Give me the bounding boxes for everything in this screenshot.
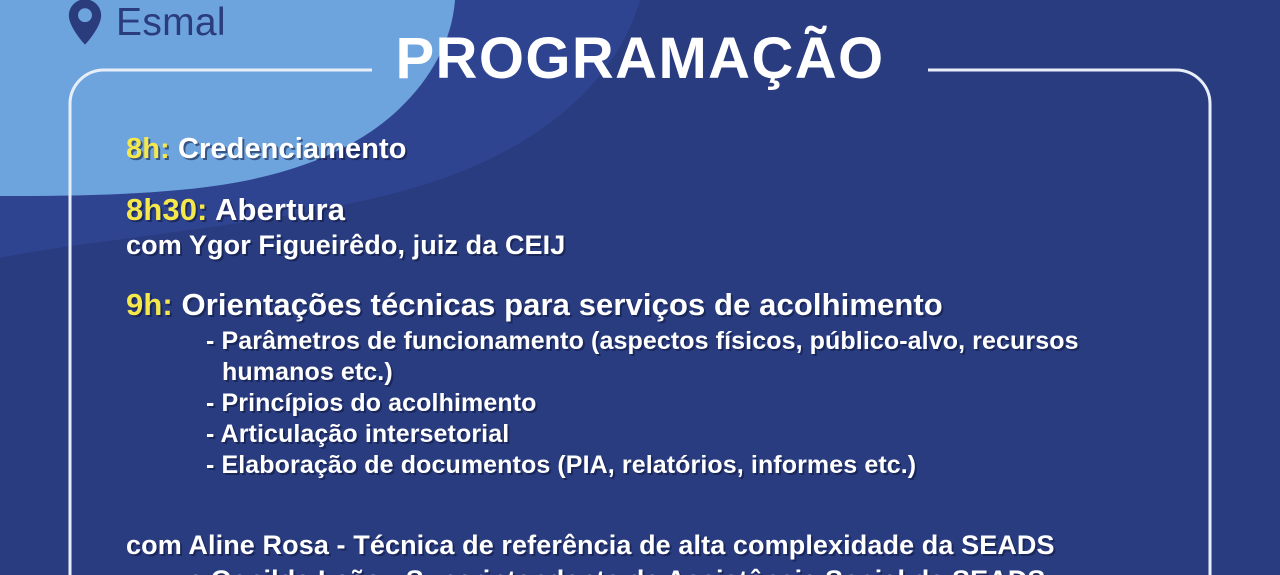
- schedule-entry-title: Abertura: [215, 192, 345, 227]
- schedule-list: 8h: Credenciamento 8h30: Abertura com Yg…: [126, 132, 1186, 481]
- credits-line-2: e Genilda Leão - Superintendente de Assi…: [126, 563, 1226, 575]
- list-item: - Elaboração de documentos (PIA, relatór…: [206, 450, 1186, 481]
- page-title: PROGRAMAÇÃO: [0, 30, 1280, 88]
- schedule-entry-0: 8h: Credenciamento: [126, 132, 1186, 166]
- list-item: - Parâmetros de funcionamento (aspectos …: [206, 326, 1186, 388]
- schedule-entry-heading: 8h30: Abertura: [126, 192, 1186, 229]
- list-item: - Princípios do acolhimento: [206, 388, 1186, 419]
- schedule-entry-time: 8h:: [126, 133, 170, 165]
- schedule-entry-time: 9h:: [126, 287, 173, 322]
- schedule-entry-1: 8h30: Abertura com Ygor Figueirêdo, juiz…: [126, 192, 1186, 261]
- list-item: - Articulação intersetorial: [206, 419, 1186, 450]
- schedule-entry-bullets: - Parâmetros de funcionamento (aspectos …: [126, 326, 1186, 481]
- schedule-entry-heading: 8h: Credenciamento: [126, 132, 1186, 166]
- programacao-poster: Esmal PROGRAMAÇÃO 8h: Credenciamento 8h3…: [0, 0, 1280, 575]
- schedule-entry-title: Credenciamento: [178, 133, 407, 165]
- schedule-entry-time: 8h30:: [126, 192, 207, 227]
- schedule-entry-2: 9h: Orientações técnicas para serviços d…: [126, 287, 1186, 481]
- credits-line-1: com Aline Rosa - Técnica de referência d…: [126, 528, 1226, 563]
- schedule-entry-heading: 9h: Orientações técnicas para serviços d…: [126, 287, 1186, 324]
- schedule-entry-subtitle: com Ygor Figueirêdo, juiz da CEIJ: [126, 229, 1186, 261]
- speaker-credits: com Aline Rosa - Técnica de referência d…: [126, 528, 1226, 575]
- schedule-entry-title: Orientações técnicas para serviços de ac…: [182, 287, 943, 322]
